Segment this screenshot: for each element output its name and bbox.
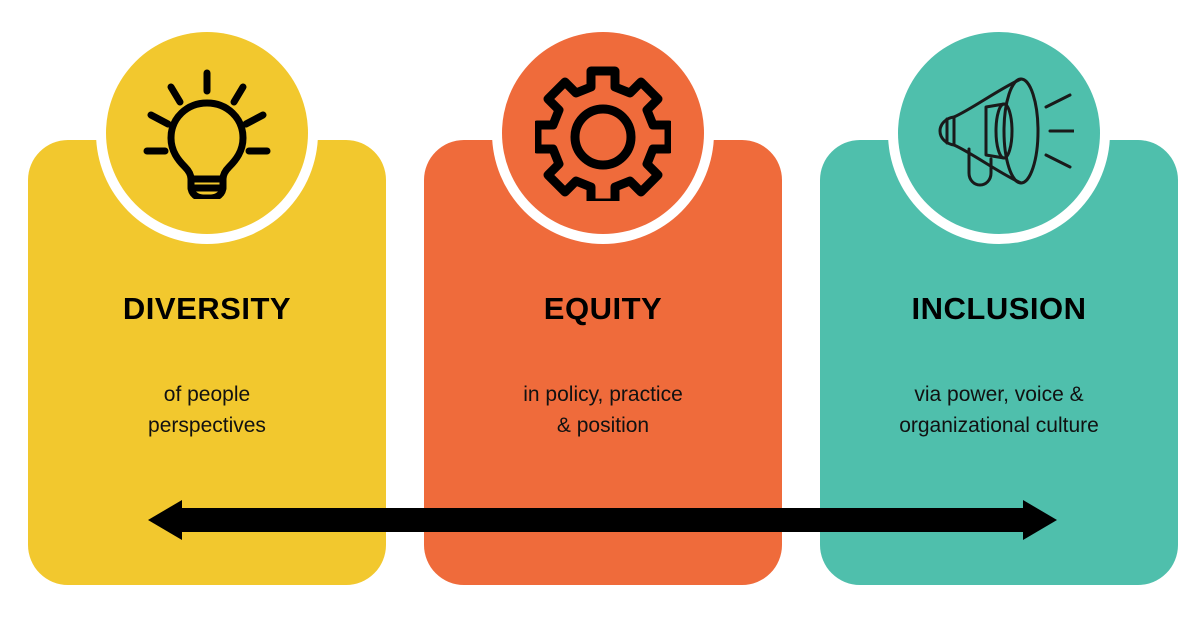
- card-subtitle-line: organizational culture: [834, 411, 1164, 441]
- dei-diagram: DIVERSITY of people perspectives EQUITY …: [0, 0, 1200, 620]
- card-title-inclusion: INCLUSION: [820, 292, 1178, 326]
- card-subtitle-equity: in policy, practice & position: [424, 380, 782, 441]
- card-equity[interactable]: EQUITY in policy, practice & position: [424, 0, 782, 620]
- card-subtitle-line: & position: [438, 411, 768, 441]
- card-subtitle-diversity: of people perspectives: [28, 380, 386, 441]
- card-subtitle-inclusion: via power, voice & organizational cultur…: [820, 380, 1178, 441]
- card-diversity[interactable]: DIVERSITY of people perspectives: [28, 0, 386, 620]
- card-subtitle-line: in policy, practice: [438, 380, 768, 410]
- card-subtitle-line: of people: [42, 380, 372, 410]
- card-title-equity: EQUITY: [424, 292, 782, 326]
- card-subtitle-line: via power, voice &: [834, 380, 1164, 410]
- card-title-diversity: DIVERSITY: [28, 292, 386, 326]
- card-inclusion[interactable]: INCLUSION via power, voice & organizatio…: [820, 0, 1178, 620]
- card-text-inclusion: INCLUSION via power, voice & organizatio…: [820, 140, 1178, 441]
- card-subtitle-line: perspectives: [42, 411, 372, 441]
- card-text-diversity: DIVERSITY of people perspectives: [28, 140, 386, 441]
- card-text-equity: EQUITY in policy, practice & position: [424, 140, 782, 441]
